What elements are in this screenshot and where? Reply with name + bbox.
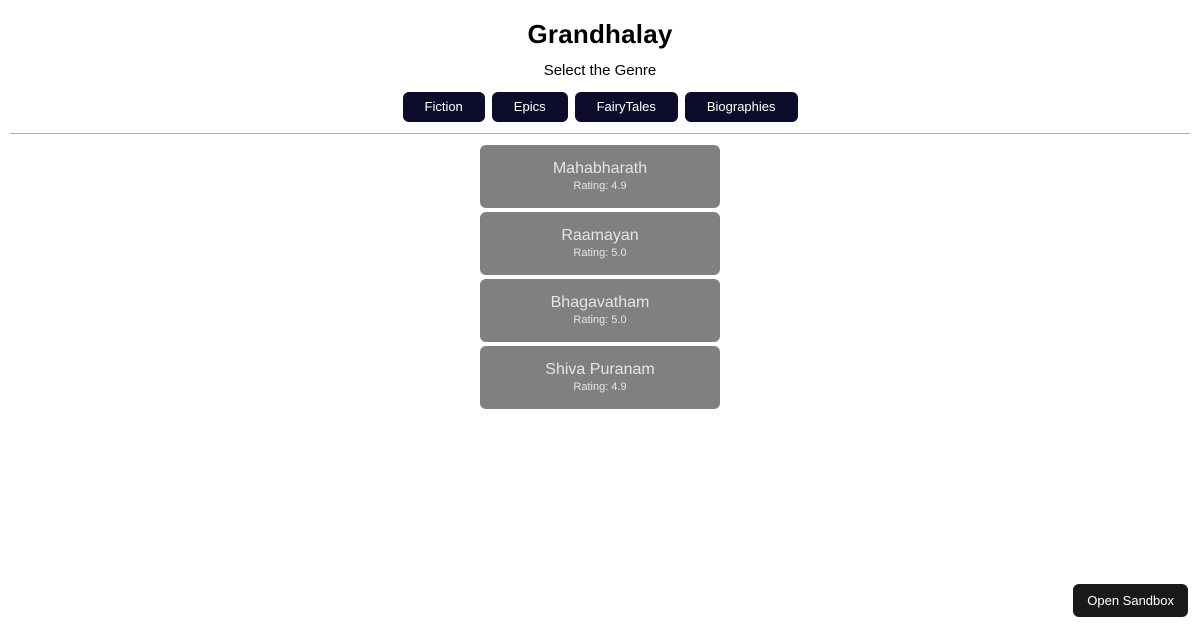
book-title: Shiva Puranam — [545, 360, 654, 379]
page-subtitle: Select the Genre — [0, 50, 1200, 80]
book-card[interactable]: Raamayan Rating: 5.0 — [480, 212, 720, 275]
app-root: Grandhalay Select the Genre Fiction Epic… — [0, 0, 1200, 630]
book-card[interactable]: Mahabharath Rating: 4.9 — [480, 145, 720, 208]
book-card[interactable]: Shiva Puranam Rating: 4.9 — [480, 346, 720, 409]
book-rating: Rating: 4.9 — [573, 179, 626, 194]
book-title: Raamayan — [561, 226, 638, 245]
open-sandbox-button[interactable]: Open Sandbox — [1073, 584, 1188, 617]
genre-button-epics[interactable]: Epics — [492, 92, 568, 122]
book-title: Mahabharath — [553, 159, 647, 178]
genre-button-group: Fiction Epics FairyTales Biographies — [0, 92, 1200, 122]
genre-button-fairytales[interactable]: FairyTales — [575, 92, 678, 122]
genre-button-fiction[interactable]: Fiction — [403, 92, 485, 122]
genre-button-biographies[interactable]: Biographies — [685, 92, 798, 122]
page-title: Grandhalay — [0, 0, 1200, 50]
book-rating: Rating: 4.9 — [573, 380, 626, 395]
book-rating: Rating: 5.0 — [573, 313, 626, 328]
book-card[interactable]: Bhagavatham Rating: 5.0 — [480, 279, 720, 342]
book-list: Mahabharath Rating: 4.9 Raamayan Rating:… — [480, 134, 720, 409]
book-rating: Rating: 5.0 — [573, 246, 626, 261]
book-title: Bhagavatham — [551, 293, 650, 312]
